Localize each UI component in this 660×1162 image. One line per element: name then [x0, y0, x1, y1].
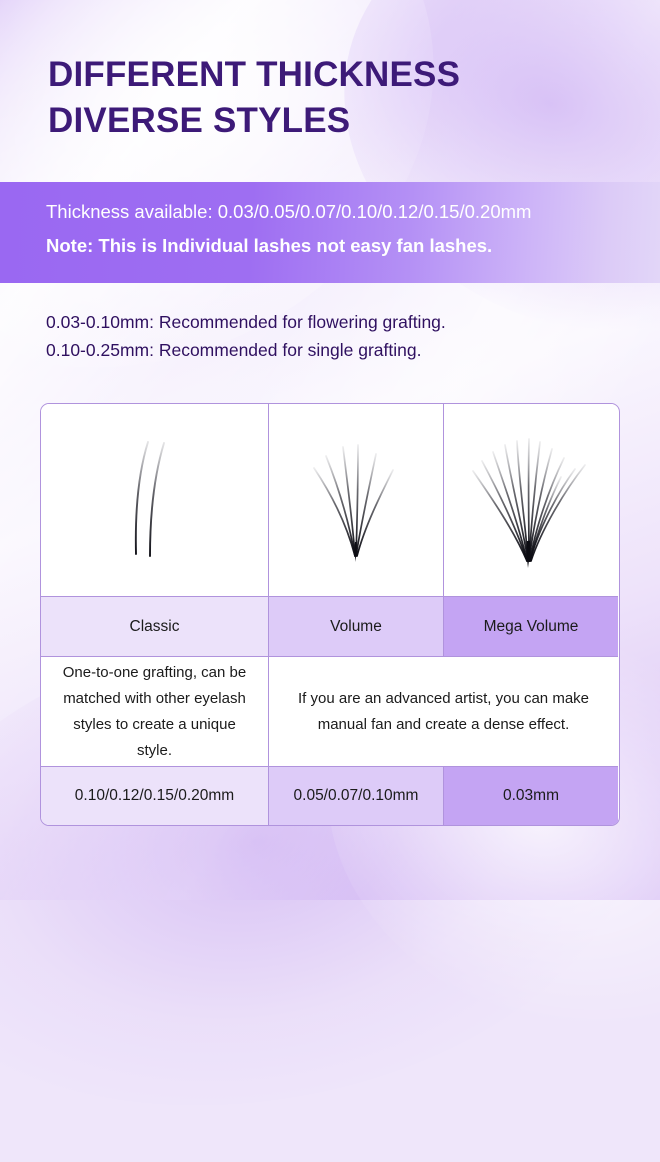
style-label-mega-volume: Mega Volume [444, 597, 618, 657]
page-title-line-2: DIVERSE STYLES [48, 98, 628, 144]
table-row-thickness: 0.10/0.12/0.15/0.20mm 0.05/0.07/0.10mm 0… [41, 767, 619, 825]
page-title-line-1: DIFFERENT THICKNESS [48, 52, 628, 98]
recommendation-list: 0.03-0.10mm: Recommended for flowering g… [46, 308, 446, 364]
volume-lash-fan-icon [296, 430, 416, 570]
classic-lash-illustration-cell [41, 404, 269, 597]
mega-volume-lash-fan-icon [461, 425, 601, 575]
style-label-volume: Volume [269, 597, 444, 657]
description-volume-mega: If you are an advanced artist, you can m… [269, 657, 618, 767]
volume-lash-illustration-cell [269, 404, 444, 597]
mega-volume-lash-illustration-cell [444, 404, 618, 597]
thickness-volume: 0.05/0.07/0.10mm [269, 767, 444, 825]
description-classic: One-to-one grafting, can be matched with… [41, 657, 269, 767]
thickness-classic: 0.10/0.12/0.15/0.20mm [41, 767, 269, 825]
thickness-mega-volume: 0.03mm [444, 767, 618, 825]
recommendation-item: 0.10-0.25mm: Recommended for single graf… [46, 336, 446, 364]
thickness-available-text: Thickness available: 0.03/0.05/0.07/0.10… [46, 201, 531, 223]
banner-note-text: Note: This is Individual lashes not easy… [46, 235, 492, 257]
lash-comparison-table: Classic Volume Mega Volume One-to-one gr… [40, 403, 620, 826]
page-title: DIFFERENT THICKNESS DIVERSE STYLES [48, 52, 628, 144]
product-info-page: DIFFERENT THICKNESS DIVERSE STYLES Thick… [0, 0, 660, 900]
table-row-descriptions: One-to-one grafting, can be matched with… [41, 657, 619, 767]
thickness-banner: Thickness available: 0.03/0.05/0.07/0.10… [0, 182, 660, 283]
style-label-classic: Classic [41, 597, 269, 657]
table-row-style-labels: Classic Volume Mega Volume [41, 597, 619, 657]
classic-lash-icon [110, 430, 200, 570]
recommendation-item: 0.03-0.10mm: Recommended for flowering g… [46, 308, 446, 336]
table-row-illustrations [41, 404, 619, 597]
